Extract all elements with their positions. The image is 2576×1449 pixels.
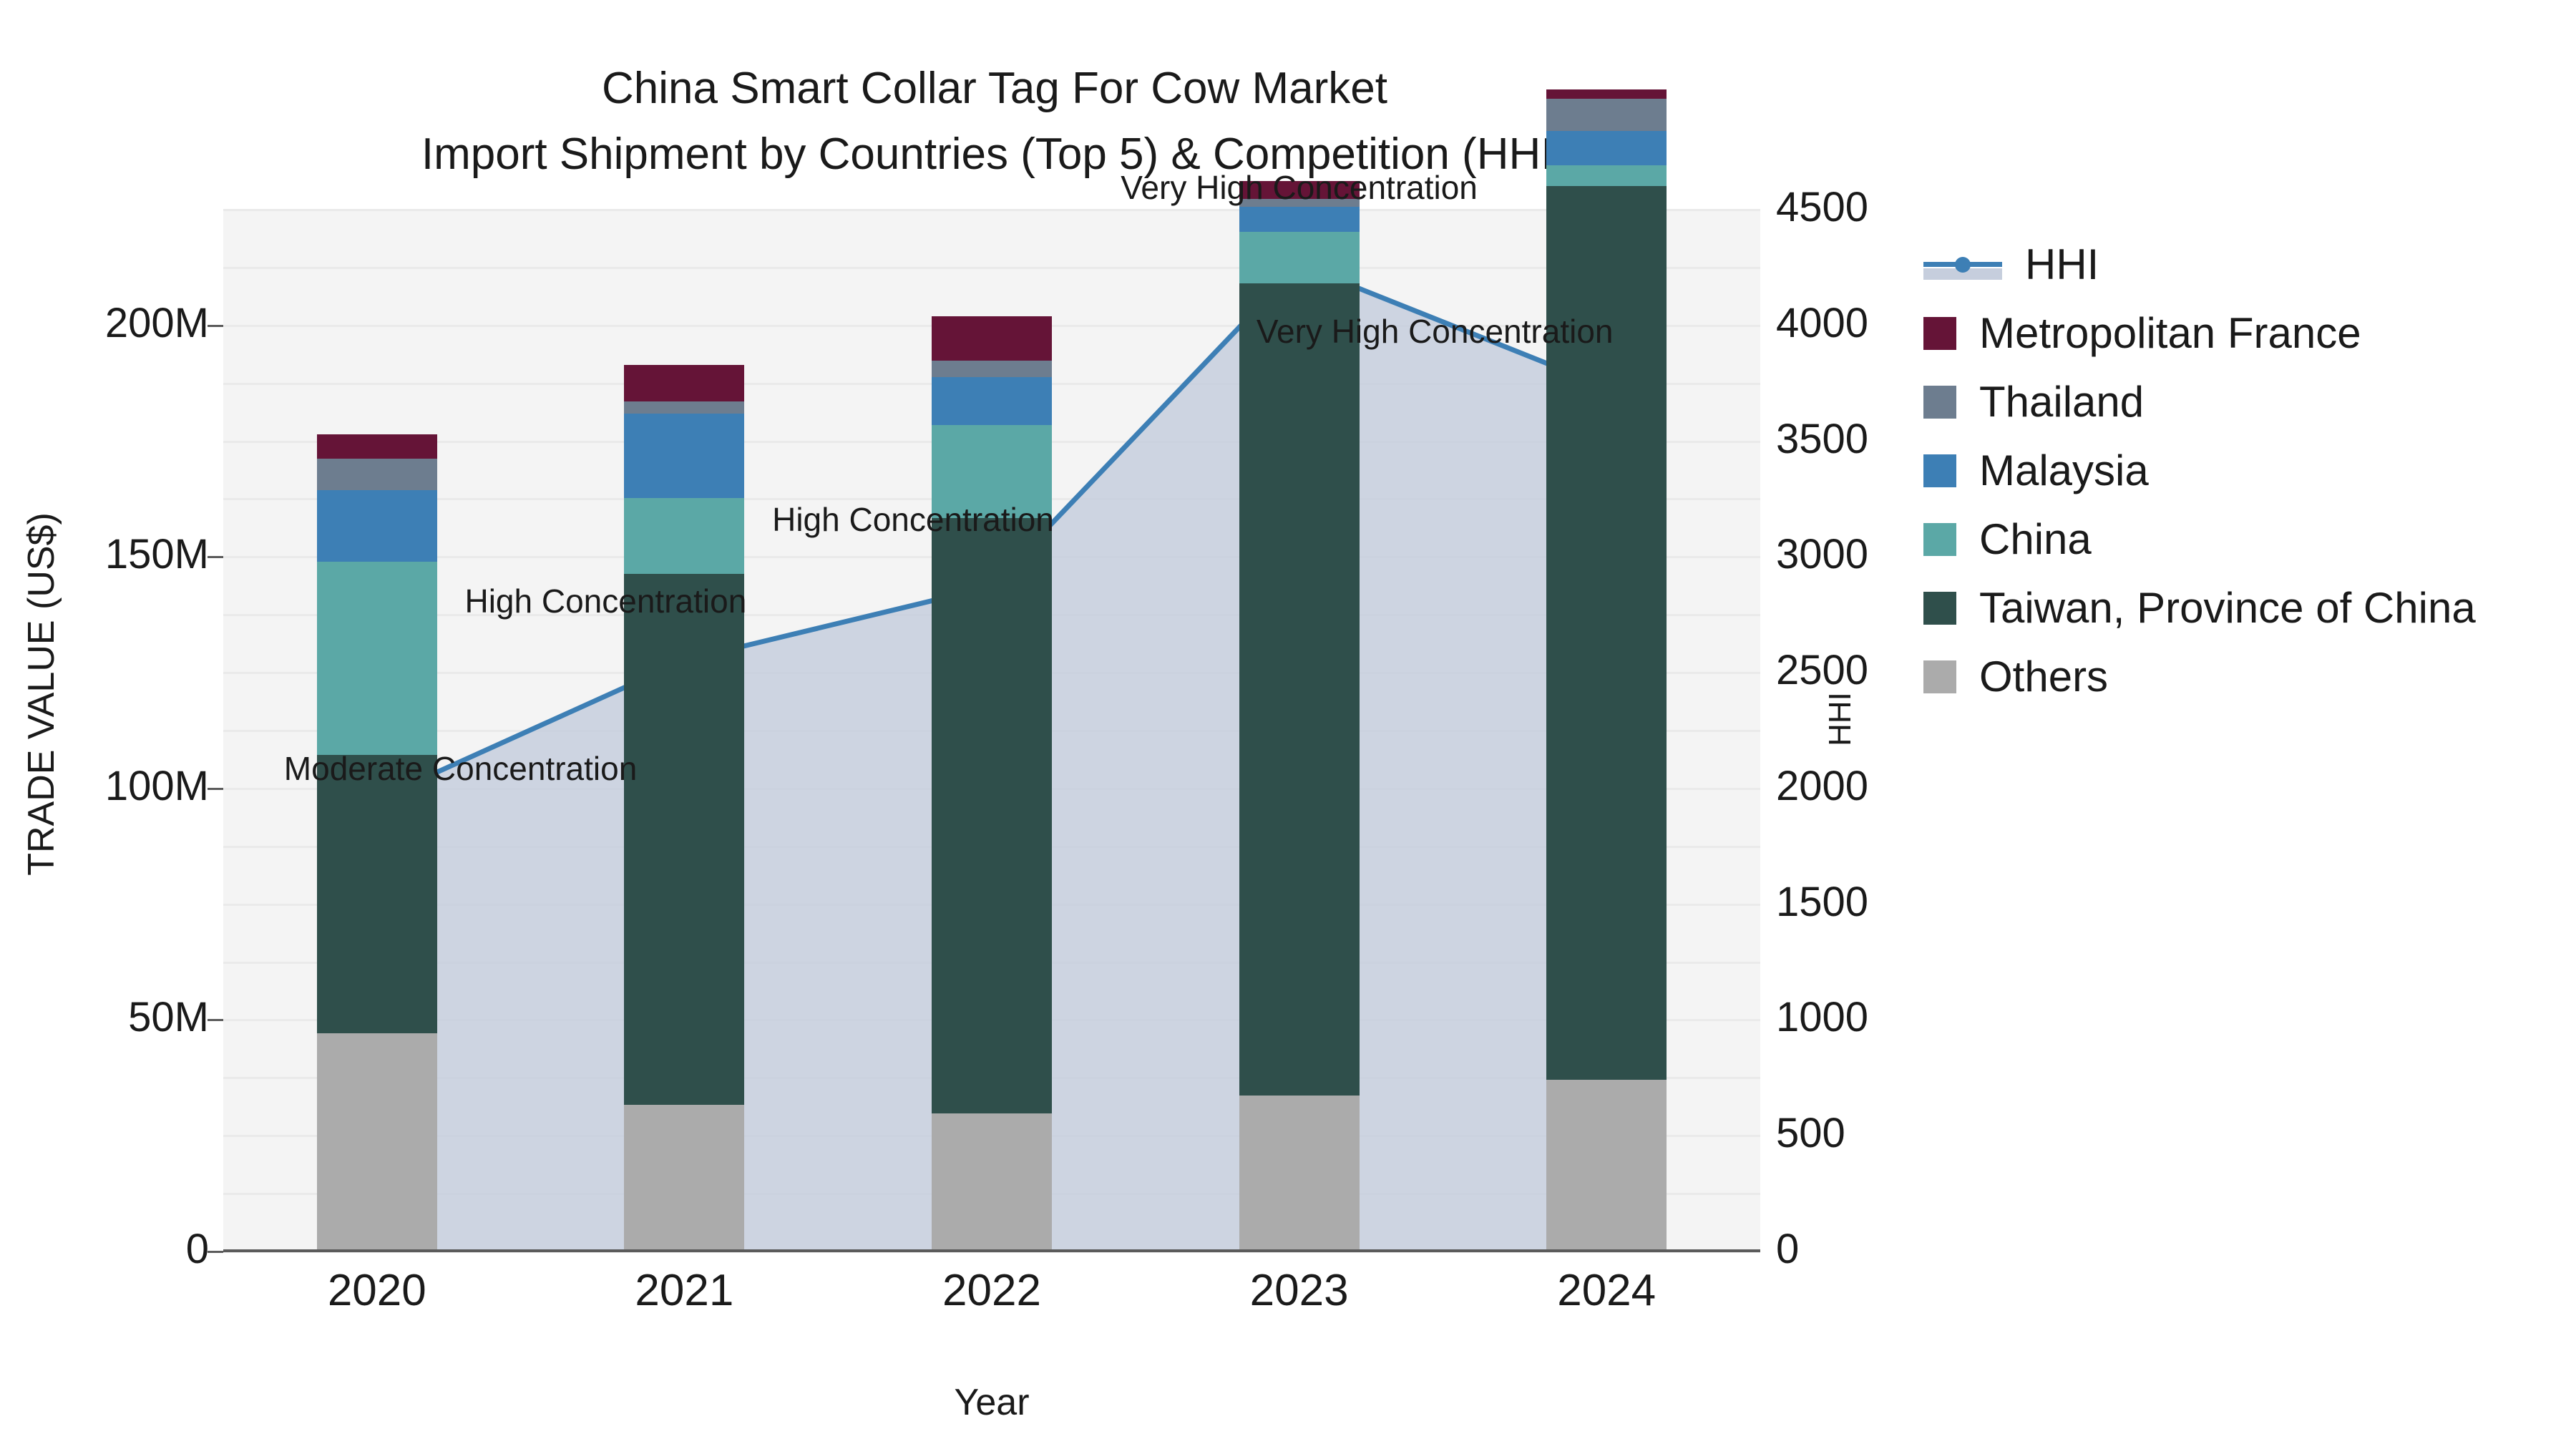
legend-swatch-icon [1923, 660, 1956, 693]
y-axis-right-tick-label: 1000 [1776, 993, 1991, 1041]
y-axis-right-tick-label: 500 [1776, 1109, 1991, 1157]
legend-swatch-icon [1923, 523, 1956, 556]
bar-segment[interactable] [624, 498, 744, 574]
y-axis-right-tick-label: 1500 [1776, 878, 1991, 926]
legend-item-label: China [1979, 518, 2092, 561]
legend-item[interactable]: Metropolitan France [1923, 299, 2553, 368]
chart-legend: HHIMetropolitan FranceThailandMalaysiaCh… [1923, 230, 2553, 711]
legend-item[interactable]: China [1923, 505, 2553, 574]
bar-segment[interactable] [1546, 131, 1667, 165]
x-axis-tick-label: 2021 [570, 1265, 799, 1316]
bar-segment[interactable] [1239, 232, 1360, 283]
legend-swatch-icon [1923, 386, 1956, 419]
legend-swatch-icon [1923, 592, 1956, 625]
x-axis-line [223, 1249, 1760, 1252]
y-axis-right-tick-label: 0 [1776, 1225, 1991, 1273]
bar-segment[interactable] [317, 459, 437, 491]
legend-item-label: Malaysia [1979, 449, 2149, 492]
y-axis-right-tick-label: 4500 [1776, 183, 1991, 231]
legend-item-label: Others [1979, 655, 2108, 698]
bar-segment[interactable] [1546, 99, 1667, 131]
bar-stack[interactable] [624, 0, 744, 1251]
bar-segment[interactable] [624, 401, 744, 414]
bar-segment[interactable] [1239, 283, 1360, 1096]
bar-stack[interactable] [932, 0, 1052, 1251]
y-axis-left-tick-mark [208, 1251, 223, 1253]
legend-item[interactable]: Others [1923, 643, 2553, 711]
bar-segment[interactable] [317, 434, 437, 459]
y-axis-left-tick-mark [208, 788, 223, 790]
bar-segment[interactable] [317, 490, 437, 562]
concentration-annotation: Very High Concentration [1257, 312, 1614, 351]
x-axis-tick-label: 2023 [1185, 1265, 1414, 1316]
y-axis-left-tick-mark [208, 556, 223, 558]
legend-swatch-icon [1923, 317, 1956, 350]
y-axis-left-title: TRADE VALUE (US$) [20, 422, 63, 966]
bar-segment[interactable] [624, 414, 744, 498]
bar-segment[interactable] [932, 518, 1052, 1113]
bar-segment[interactable] [1239, 207, 1360, 231]
legend-item-label: Thailand [1979, 381, 2144, 424]
bar-stack[interactable] [1546, 0, 1667, 1251]
bar-segment[interactable] [317, 562, 437, 755]
y-axis-left-tick-label: 200M [9, 299, 209, 347]
legend-item[interactable]: HHI [1923, 230, 2553, 299]
bar-segment[interactable] [624, 1105, 744, 1251]
bar-segment[interactable] [317, 755, 437, 1033]
bar-segment[interactable] [932, 1113, 1052, 1251]
legend-item-label: Taiwan, Province of China [1979, 587, 2476, 630]
bar-segment[interactable] [1546, 89, 1667, 99]
concentration-annotation: Moderate Concentration [284, 749, 638, 788]
bar-segment[interactable] [317, 1033, 437, 1251]
legend-item[interactable]: Malaysia [1923, 436, 2553, 505]
bar-segment[interactable] [932, 316, 1052, 360]
bar-segment[interactable] [624, 574, 744, 1105]
x-axis-tick-label: 2020 [263, 1265, 492, 1316]
bar-segment[interactable] [1239, 1096, 1360, 1251]
x-axis-title: Year [777, 1381, 1206, 1424]
bar-stack[interactable] [317, 0, 437, 1251]
y-axis-left-tick-mark [208, 1019, 223, 1021]
legend-item[interactable]: Taiwan, Province of China [1923, 574, 2553, 643]
y-axis-left-tick-label: 50M [9, 993, 209, 1041]
bar-segment[interactable] [1546, 1080, 1667, 1251]
bar-segment[interactable] [1546, 165, 1667, 186]
legend-line-icon [1923, 248, 2002, 281]
x-axis-tick-label: 2024 [1492, 1265, 1721, 1316]
legend-item-label: HHI [2025, 243, 2099, 286]
concentration-annotation: Very High Concentration [1121, 168, 1478, 207]
legend-swatch-icon [1923, 454, 1956, 487]
y-axis-left-tick-mark [208, 325, 223, 327]
legend-item[interactable]: Thailand [1923, 368, 2553, 436]
y-axis-right-title: HHI [1823, 576, 1858, 862]
concentration-annotation: High Concentration [772, 500, 1054, 539]
chart-canvas: China Smart Collar Tag For Cow Market Im… [0, 0, 2576, 1449]
concentration-annotation: High Concentration [464, 582, 746, 620]
y-axis-right-tick-label: 2000 [1776, 762, 1991, 810]
x-axis-tick-label: 2022 [877, 1265, 1106, 1316]
bar-segment[interactable] [932, 377, 1052, 425]
legend-item-label: Metropolitan France [1979, 312, 2361, 355]
y-axis-left-tick-label: 0 [9, 1225, 209, 1273]
bar-segment[interactable] [932, 361, 1052, 377]
bar-segment[interactable] [624, 365, 744, 401]
